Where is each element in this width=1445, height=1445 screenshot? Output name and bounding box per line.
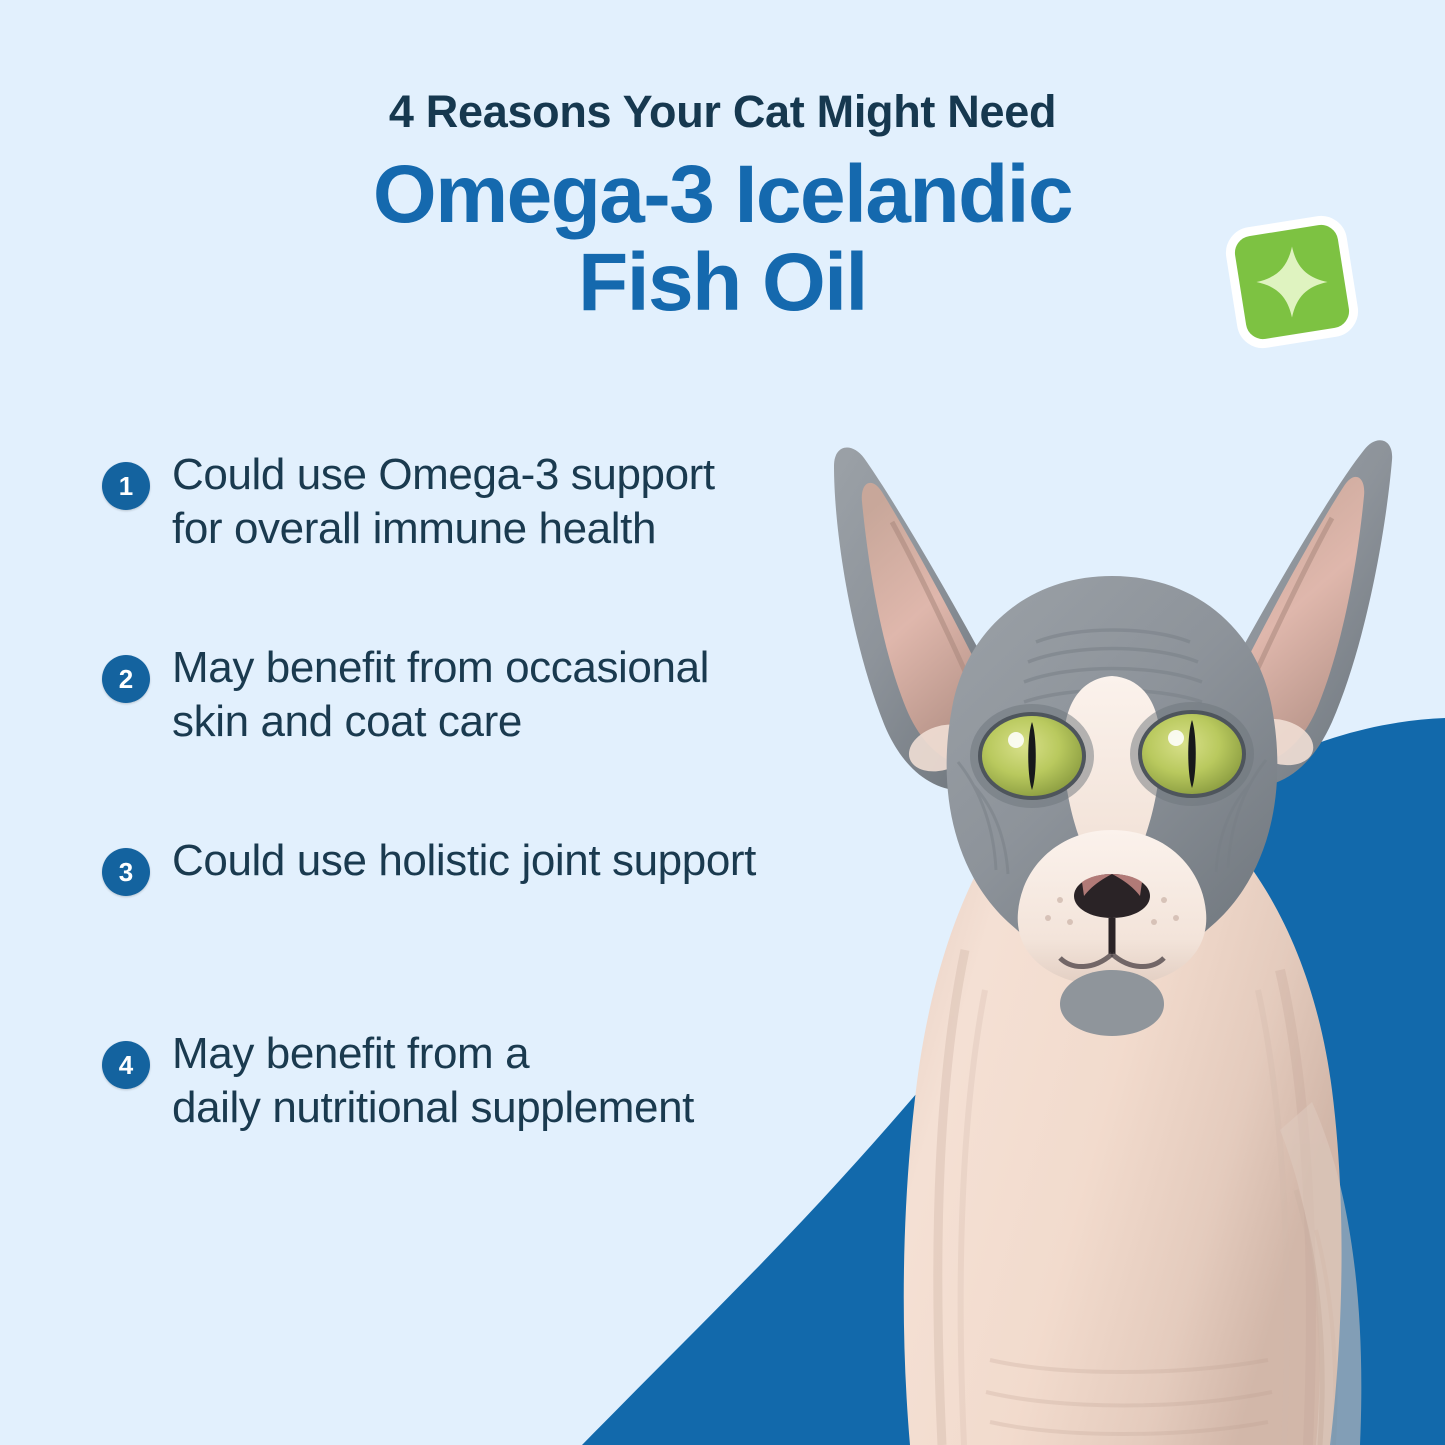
subtitle: 4 Reasons Your Cat Might Need — [0, 88, 1445, 137]
title-line-1: Omega-3 Icelandic — [0, 151, 1445, 240]
reason-3-line-1: Could use holistic joint support — [172, 834, 756, 888]
sparkle-badge — [1222, 212, 1362, 352]
reason-text-1: Could use Omega-3 support for overall im… — [172, 448, 715, 556]
sparkle-star-icon — [1255, 245, 1329, 319]
reason-badge-4: 4 — [102, 1041, 150, 1089]
list-item: 4 May benefit from a daily nutritional s… — [102, 1027, 872, 1220]
reason-badge-1: 1 — [102, 462, 150, 510]
header-block: 4 Reasons Your Cat Might Need Omega-3 Ic… — [0, 88, 1445, 328]
reason-text-4: May benefit from a daily nutritional sup… — [172, 1027, 694, 1135]
infographic-root: 4 Reasons Your Cat Might Need Omega-3 Ic… — [0, 0, 1445, 1445]
reason-badge-2: 2 — [102, 655, 150, 703]
reason-4-line-2: daily nutritional supplement — [172, 1081, 694, 1135]
list-item: 3 Could use holistic joint support — [102, 834, 872, 1027]
reason-text-3: Could use holistic joint support — [172, 834, 756, 888]
reason-badge-3: 3 — [102, 848, 150, 896]
reason-1-line-1: Could use Omega-3 support — [172, 448, 715, 502]
reason-2-line-2: skin and coat care — [172, 695, 709, 749]
reason-1-line-2: for overall immune health — [172, 502, 715, 556]
reasons-list: 1 Could use Omega-3 support for overall … — [102, 448, 872, 1220]
reason-4-line-1: May benefit from a — [172, 1027, 694, 1081]
reason-2-line-1: May benefit from occasional — [172, 641, 709, 695]
reason-text-2: May benefit from occasional skin and coa… — [172, 641, 709, 749]
list-item: 1 Could use Omega-3 support for overall … — [102, 448, 872, 641]
list-item: 2 May benefit from occasional skin and c… — [102, 641, 872, 834]
